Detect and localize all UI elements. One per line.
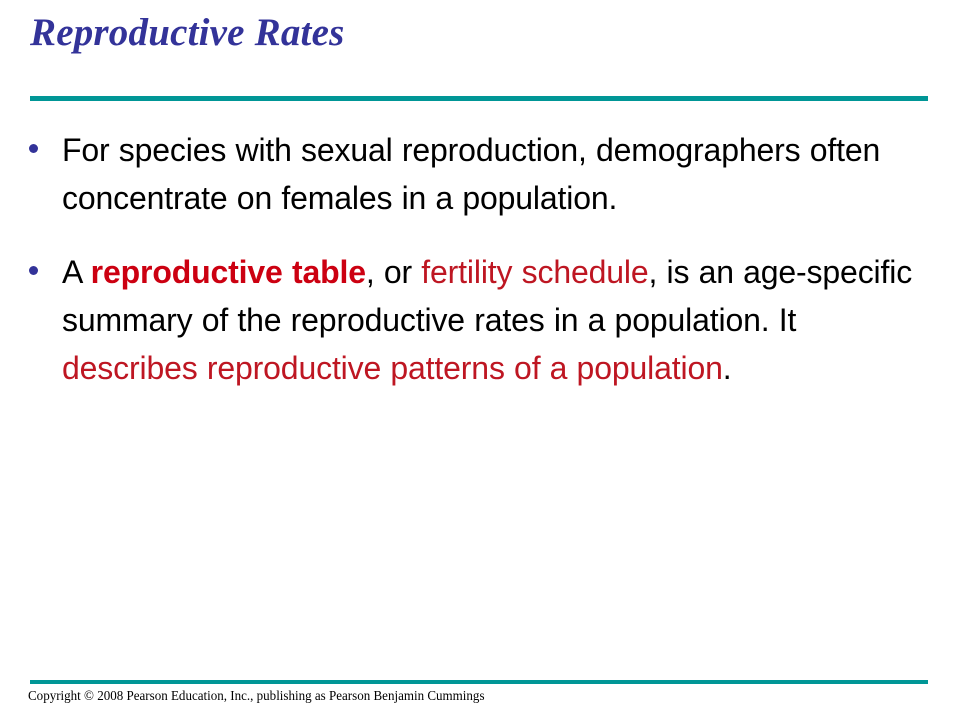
bullet-dot-icon xyxy=(29,266,38,275)
list-item: A reproductive table, or fertility sched… xyxy=(0,248,960,392)
bullet-2-segment-or: , or xyxy=(366,254,421,290)
page-title: Reproductive Rates xyxy=(30,11,930,55)
slide-canvas: Reproductive Rates For species with sexu… xyxy=(0,0,960,720)
copyright-footer: Copyright © 2008 Pearson Education, Inc.… xyxy=(28,688,485,706)
slide-body: For species with sexual reproduction, de… xyxy=(0,126,960,418)
footer-divider-rule xyxy=(30,680,928,684)
term-fertility-schedule: fertility schedule xyxy=(421,254,648,290)
list-item: For species with sexual reproduction, de… xyxy=(0,126,960,222)
bullet-text-1: For species with sexual reproduction, de… xyxy=(62,126,932,222)
bullet-text-2: A reproductive table, or fertility sched… xyxy=(62,248,932,392)
title-divider-rule xyxy=(30,96,928,101)
bullet-1-segment-plain: For species with sexual reproduction, de… xyxy=(62,132,880,216)
bullet-dot-icon xyxy=(29,144,38,153)
bullet-2-segment-lead: A xyxy=(62,254,91,290)
phrase-describes-reproductive-patterns: describes reproductive patterns of a pop… xyxy=(62,350,723,386)
bullet-2-segment-period: . xyxy=(723,350,732,386)
term-reproductive-table: reproductive table xyxy=(91,254,366,290)
